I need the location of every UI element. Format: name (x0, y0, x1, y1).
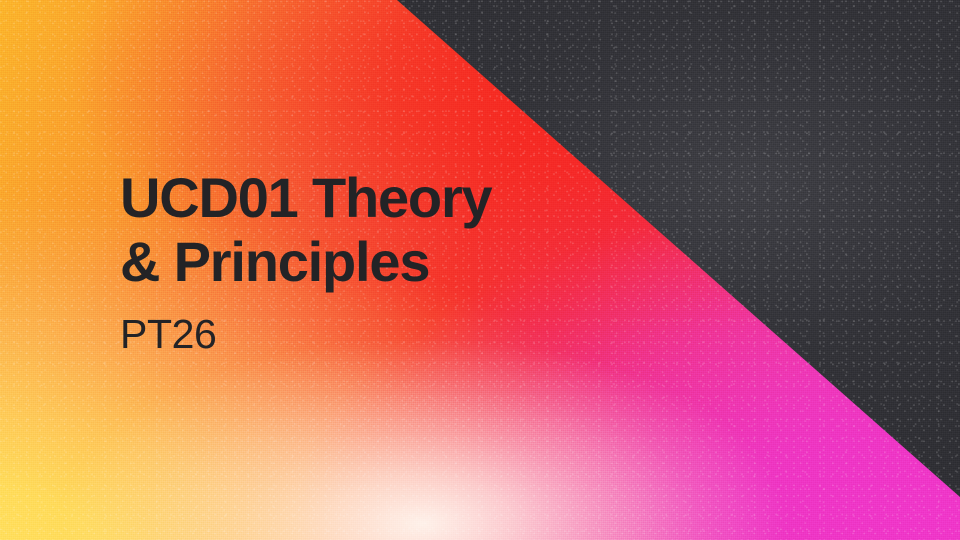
title-text-block: UCD01 Theory & Principles PT26 (120, 166, 680, 358)
page-title: UCD01 Theory & Principles (120, 166, 680, 294)
title-slide: UCD01 Theory & Principles PT26 (0, 0, 960, 540)
slide-subtitle: PT26 (120, 294, 680, 358)
